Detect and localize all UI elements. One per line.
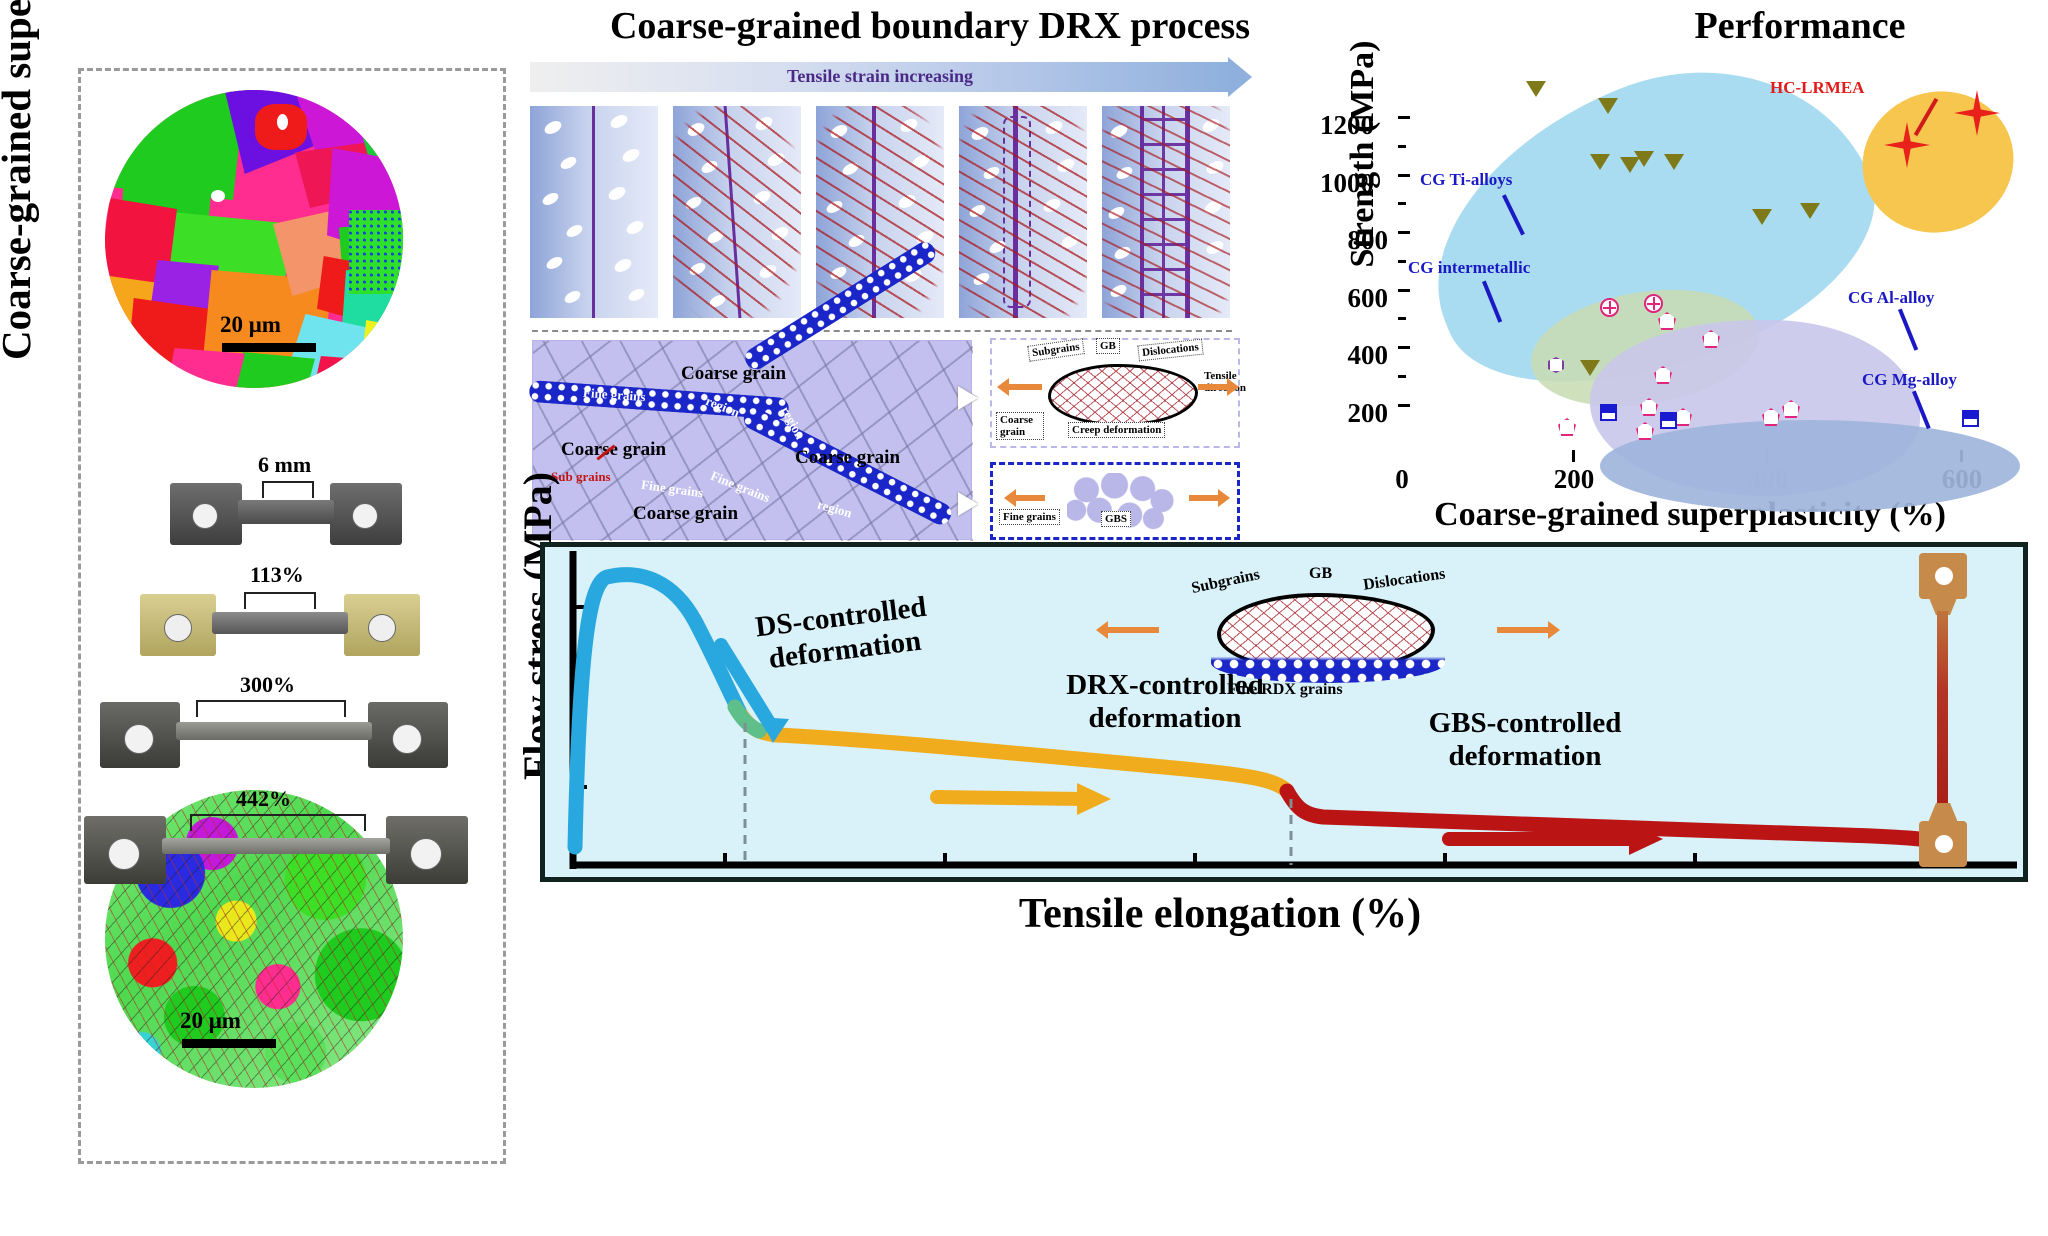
marker-ti-6 xyxy=(1752,209,1772,225)
marker-mg-2 xyxy=(1962,410,1979,427)
marker-ti-2 xyxy=(1590,154,1610,170)
coarse-grain-schematic: Coarse grain Coarse grain Coarse grain C… xyxy=(532,340,972,540)
scatter-ytick-1000: 1000 xyxy=(1294,168,1374,199)
creep-deformation-box: Subgrains GB Dislocations Coarse grain C… xyxy=(990,338,1240,448)
dislocations-callout: Dislocations xyxy=(1137,339,1203,362)
coarse-grain-label-3: Coarse grain xyxy=(633,503,738,525)
scatter-xtick-200: 200 xyxy=(1544,464,1604,495)
inset-arrow-left-icon xyxy=(1107,627,1159,633)
drx-stage-1 xyxy=(530,106,658,318)
scatter-ytick-mark xyxy=(1398,317,1406,320)
subgrains-callout: Subgrains xyxy=(1027,338,1084,362)
marker-intermetallic-0 xyxy=(1600,298,1619,317)
fine-rdx-grain-shell-icon xyxy=(1211,643,1445,683)
inset-arrow-right-icon xyxy=(1497,627,1549,633)
coarse-grain-label-1: Coarse grain xyxy=(561,439,666,461)
hollow-arrow-icon-2 xyxy=(958,492,978,516)
dislocation-field-icon xyxy=(1102,106,1230,318)
annotation-cg-al-alloy: CG Al-alloy xyxy=(1848,288,1934,308)
scatter-ytick-mark xyxy=(1398,346,1410,349)
scatter-xtick-0: 0 xyxy=(1372,464,1432,495)
tensile-specimen-vertical-icon xyxy=(1909,553,1975,871)
specimen-label-0: 6 mm xyxy=(258,452,311,478)
marker-ti-7 xyxy=(1800,203,1820,219)
tensile-strain-arrow-bar: Tensile strain increasing xyxy=(530,62,1230,92)
creep-deformation-caption: Creep deformation xyxy=(1068,422,1165,438)
marker-intermetallic-1 xyxy=(1644,294,1663,313)
specimen-label-1: 113% xyxy=(250,562,304,588)
arrow-left-icon xyxy=(1008,384,1042,390)
scatter-ytick-800: 800 xyxy=(1308,225,1388,256)
gbs-deformation-box: Fine grains GBS xyxy=(990,462,1240,540)
scatter-ytick-mark xyxy=(1398,260,1406,263)
marker-ti-4 xyxy=(1634,151,1654,167)
flow-annotation-gbs: GBS-controlled deformation xyxy=(1385,707,1665,774)
ebsd-bottom-scalebar-line xyxy=(182,1039,276,1048)
drx-stage-2 xyxy=(673,106,801,318)
fine-grains-callout: Fine grains xyxy=(999,509,1060,525)
marker-ti-8 xyxy=(1580,360,1600,376)
arrow-left-icon xyxy=(1015,495,1045,501)
marker-ti-1 xyxy=(1598,98,1618,114)
arrow-right-icon xyxy=(1228,57,1252,97)
marker-al-7 xyxy=(1558,418,1576,436)
tensile-strain-label: Tensile strain increasing xyxy=(530,66,1230,87)
scatter-ytick-mark xyxy=(1398,404,1410,407)
annotation-cg-mg-alloy: CG Mg-alloy xyxy=(1862,370,1957,390)
scatter-ytick-mark xyxy=(1398,375,1406,378)
annotation-hc-lrmea: HC-LRMEA xyxy=(1770,78,1864,98)
ebsd-top-scalebar-label: 20 μm xyxy=(220,312,281,338)
arrow-right-icon xyxy=(1189,495,1219,501)
ebsd-top-scalebar-line xyxy=(222,343,316,352)
flow-x-axis-label: Tensile elongation (%) xyxy=(720,890,1720,946)
gb-callout: GB xyxy=(1096,338,1120,354)
drx-process-title: Coarse-grained boundary DRX process xyxy=(520,4,1340,54)
annotation-cg-ti-alloys: CG Ti-alloys xyxy=(1420,170,1512,190)
gbs-callout: GBS xyxy=(1101,511,1131,527)
performance-title: Performance xyxy=(1590,4,2010,54)
grain-with-dislocations-icon xyxy=(1048,364,1198,426)
scatter-xtick-mark xyxy=(1572,450,1575,462)
region-cg-mg-alloy xyxy=(1600,420,2020,512)
specimen-label-3: 442% xyxy=(236,786,291,812)
dislocation-field-icon xyxy=(673,106,801,318)
drx-stage-4 xyxy=(959,106,1087,318)
marker-ti-0 xyxy=(1526,81,1546,97)
inset-label-fine-rdx-grains: Fine RDX grains xyxy=(1227,681,1343,699)
scatter-ytick-200: 200 xyxy=(1308,398,1388,429)
drx-arrow-icon xyxy=(937,783,1111,815)
coarse-grain-callout: Coarse grain xyxy=(996,412,1044,440)
leader-line-cg-al-alloy xyxy=(1898,309,1918,351)
specimen-label-2: 300% xyxy=(240,672,295,698)
coarse-grain-label-2: Coarse grain xyxy=(795,447,900,469)
hollow-arrow-icon-1 xyxy=(958,386,978,410)
annotation-cg-intermetallic: CG intermetallic xyxy=(1408,258,1530,278)
coarse-grain-label-0: Coarse grain xyxy=(681,363,786,385)
scatter-ytick-mark xyxy=(1398,145,1406,148)
scatter-ytick-mark xyxy=(1398,289,1410,292)
scatter-ytick-600: 600 xyxy=(1308,283,1388,314)
scatter-ytick-400: 400 xyxy=(1308,340,1388,371)
marker-mg-1 xyxy=(1660,412,1677,429)
scatter-ytick-mark xyxy=(1398,231,1410,234)
drx-stage-5 xyxy=(1102,106,1230,318)
dislocation-field-icon xyxy=(959,106,1087,318)
arrow-right-icon xyxy=(1198,384,1228,390)
ebsd-bottom-scalebar-label: 20 μm xyxy=(180,1008,241,1034)
drx-divider xyxy=(532,330,1232,332)
inset-grain-schematic: Subgrains GB Dislocations Fine RDX grain… xyxy=(1181,573,1481,689)
scatter-ytick-1200: 1200 xyxy=(1294,110,1374,141)
scatter-ytick-mark xyxy=(1398,116,1410,119)
marker-mg-0 xyxy=(1600,404,1617,421)
scatter-ytick-mark xyxy=(1398,202,1406,205)
left-panel-vertical-title: Coarse-grained superplasticity xyxy=(0,0,52,360)
scatter-ytick-mark xyxy=(1398,174,1410,177)
inset-label-gb: GB xyxy=(1309,565,1332,583)
marker-ti-5 xyxy=(1664,154,1684,170)
flow-stress-panel: DS-controlled deformation DRX-controlled… xyxy=(540,542,2028,882)
scatter-y-axis-label: Strength (MPa) xyxy=(1344,0,1392,314)
